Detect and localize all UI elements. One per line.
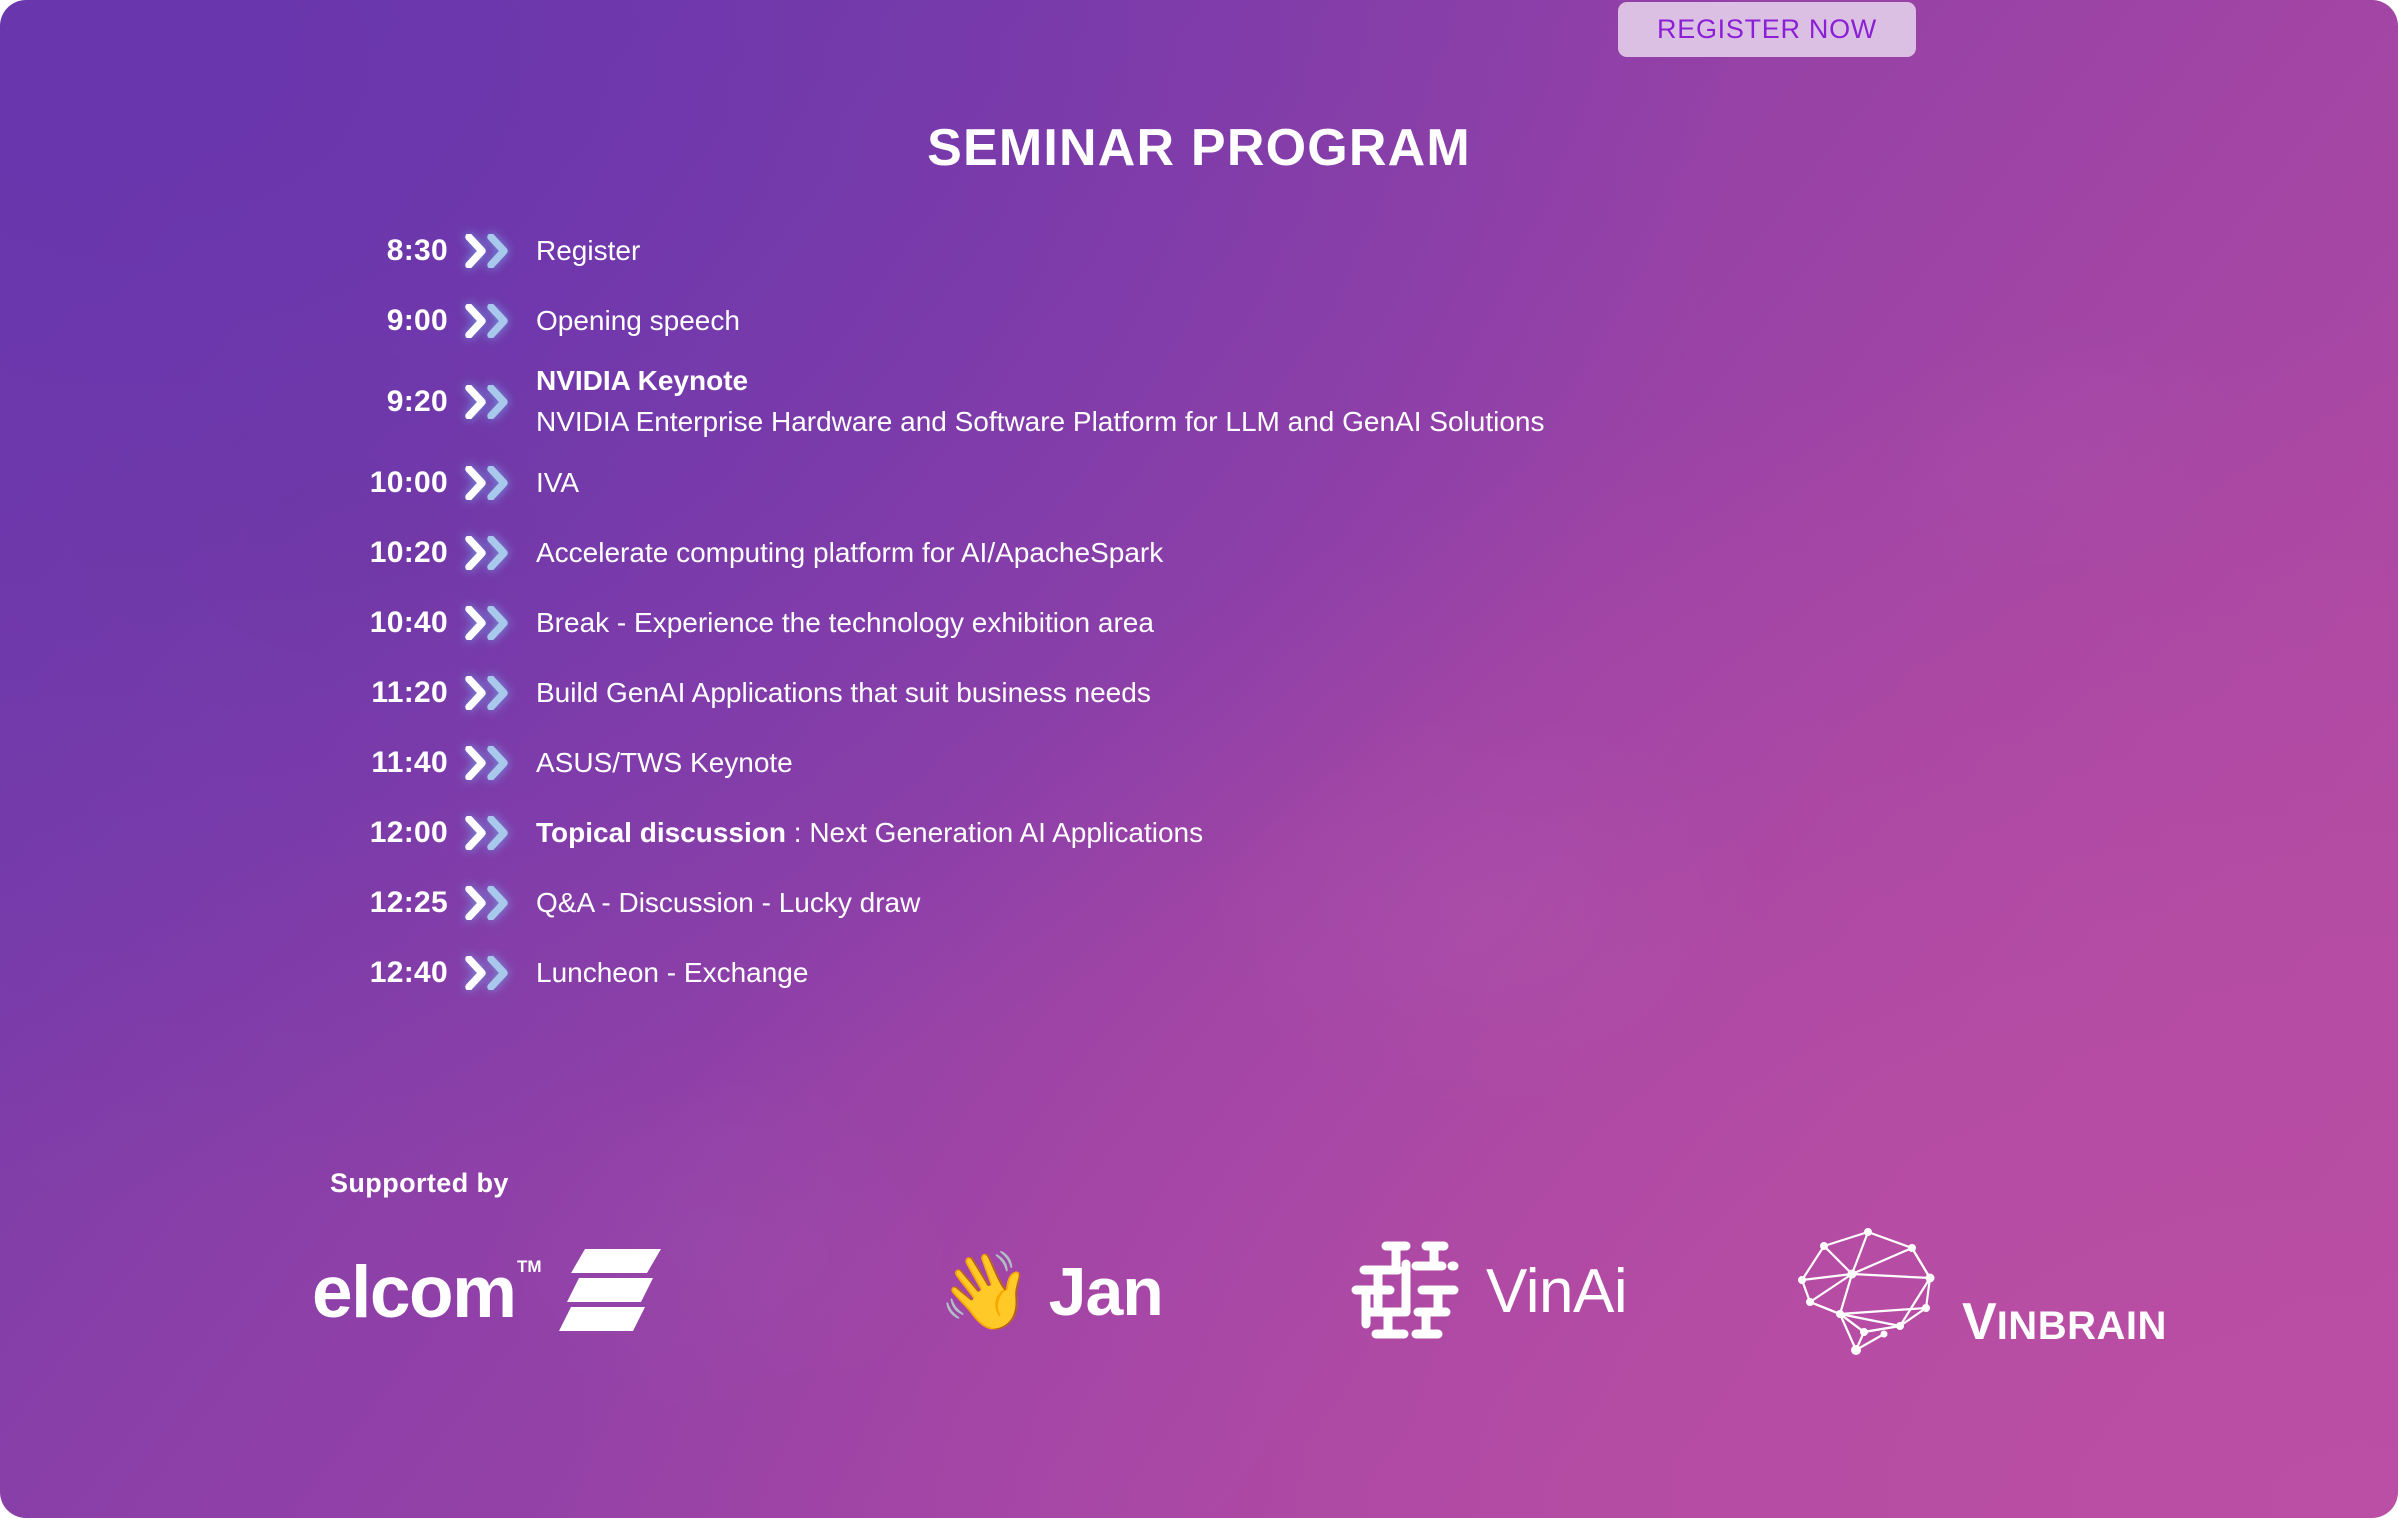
double-chevron-right-icon [448,676,528,710]
vinbrain-network-brain-icon [1792,1222,1968,1363]
schedule-row-time: 10:00 [330,468,448,498]
double-chevron-right-icon [448,466,528,500]
schedule-row: 10:20 Accelerate computing platform for … [330,518,2130,588]
schedule-row-time: 10:40 [330,608,448,638]
vinbrain-wordmark: VINBRAIN [1962,1296,2167,1348]
schedule-row-time: 9:20 [330,387,448,417]
supporter-logo-jan: 👋 Jan [800,1222,1230,1362]
jan-wordmark: Jan [1049,1258,1163,1326]
schedule-row-title: NVIDIA Keynote [536,363,2130,400]
schedule-row: 12:00 Topical discussion : Next Generati… [330,798,2130,868]
schedule-row: 11:40 ASUS/TWS Keynote [330,728,2130,798]
schedule-row-time: 12:00 [330,818,448,848]
vinbrain-wordmark-rest: INBRAIN [1997,1304,2167,1348]
vinbrain-wordmark-cap: V [1962,1293,1997,1351]
schedule-row-bold-prefix: Topical discussion [536,817,786,848]
supporter-logo-strip: elcomTM 👋 Jan [300,1222,2130,1362]
schedule-row-text: Accelerate computing platform for AI/Apa… [528,535,2130,572]
schedule-row-text: Break - Experience the technology exhibi… [528,605,2130,642]
schedule-row-time: 10:20 [330,538,448,568]
supporter-logo-vinbrain: VINBRAIN [1690,1222,2130,1362]
schedule-row: 9:00 Opening speech [330,286,2130,356]
schedule-row: 10:40 Break - Experience the technology … [330,588,2130,658]
elcom-e-mark-icon [555,1247,663,1338]
double-chevron-right-icon [448,956,528,990]
schedule-row-text: ASUS/TWS Keynote [528,745,2130,782]
schedule-row-text: Luncheon - Exchange [528,955,2130,992]
schedule-row: 11:20 Build GenAI Applications that suit… [330,658,2130,728]
schedule-row-time: 11:40 [330,748,448,778]
elcom-wordmark: elcomTM [312,1256,515,1329]
schedule-row: 8:30 Register [330,216,2130,286]
schedule-row: 10:00 IVA [330,448,2130,518]
schedule-row-label: : Next Generation AI Applications [786,817,1203,848]
schedule-row-time: 12:25 [330,888,448,918]
schedule-row-subtitle: NVIDIA Enterprise Hardware and Software … [536,404,2130,441]
schedule-row-text: Topical discussion : Next Generation AI … [528,815,2130,852]
double-chevron-right-icon [448,304,528,338]
schedule-row-text: NVIDIA KeynoteNVIDIA Enterprise Hardware… [528,363,2130,441]
seminar-program-page: REGISTER NOW SEMINAR PROGRAM 8:30 Regist… [0,0,2398,1518]
supported-by-label: Supported by [330,1168,509,1199]
page-title: SEMINAR PROGRAM [0,118,2398,178]
waving-hand-icon: 👋 [938,1254,1033,1330]
elcom-wordmark-text: elcom [312,1252,515,1333]
vinai-circuit-icon [1342,1234,1470,1351]
schedule-row-text: IVA [528,465,2130,502]
schedule-row-text: Register [528,233,2130,270]
supporter-logo-elcom: elcomTM [300,1222,800,1362]
schedule-row-text: Q&A - Discussion - Lucky draw [528,885,2130,922]
supporter-logo-vinai: VinAi [1230,1222,1690,1362]
double-chevron-right-icon [448,816,528,850]
double-chevron-right-icon [448,746,528,780]
double-chevron-right-icon [448,606,528,640]
double-chevron-right-icon [448,886,528,920]
schedule-row: 12:40 Luncheon - Exchange [330,938,2130,1008]
double-chevron-right-icon [448,385,528,419]
register-now-button[interactable]: REGISTER NOW [1618,2,1916,57]
double-chevron-right-icon [448,234,528,268]
vinai-wordmark: VinAi [1486,1261,1627,1323]
schedule-row-text: Build GenAI Applications that suit busin… [528,675,2130,712]
schedule-row: 12:25 Q&A - Discussion - Lucky draw [330,868,2130,938]
schedule-row-time: 8:30 [330,236,448,266]
schedule-row-time: 12:40 [330,958,448,988]
trademark-icon: TM [517,1258,542,1275]
schedule-row: 9:20 NVIDIA KeynoteNVIDIA Enterprise Har… [330,356,2130,448]
schedule-row-time: 11:20 [330,678,448,708]
schedule-row-text: Opening speech [528,303,2130,340]
schedule-list: 8:30 Register9:00 Opening speech9:20 NVI… [330,216,2130,1008]
double-chevron-right-icon [448,536,528,570]
schedule-row-time: 9:00 [330,306,448,336]
